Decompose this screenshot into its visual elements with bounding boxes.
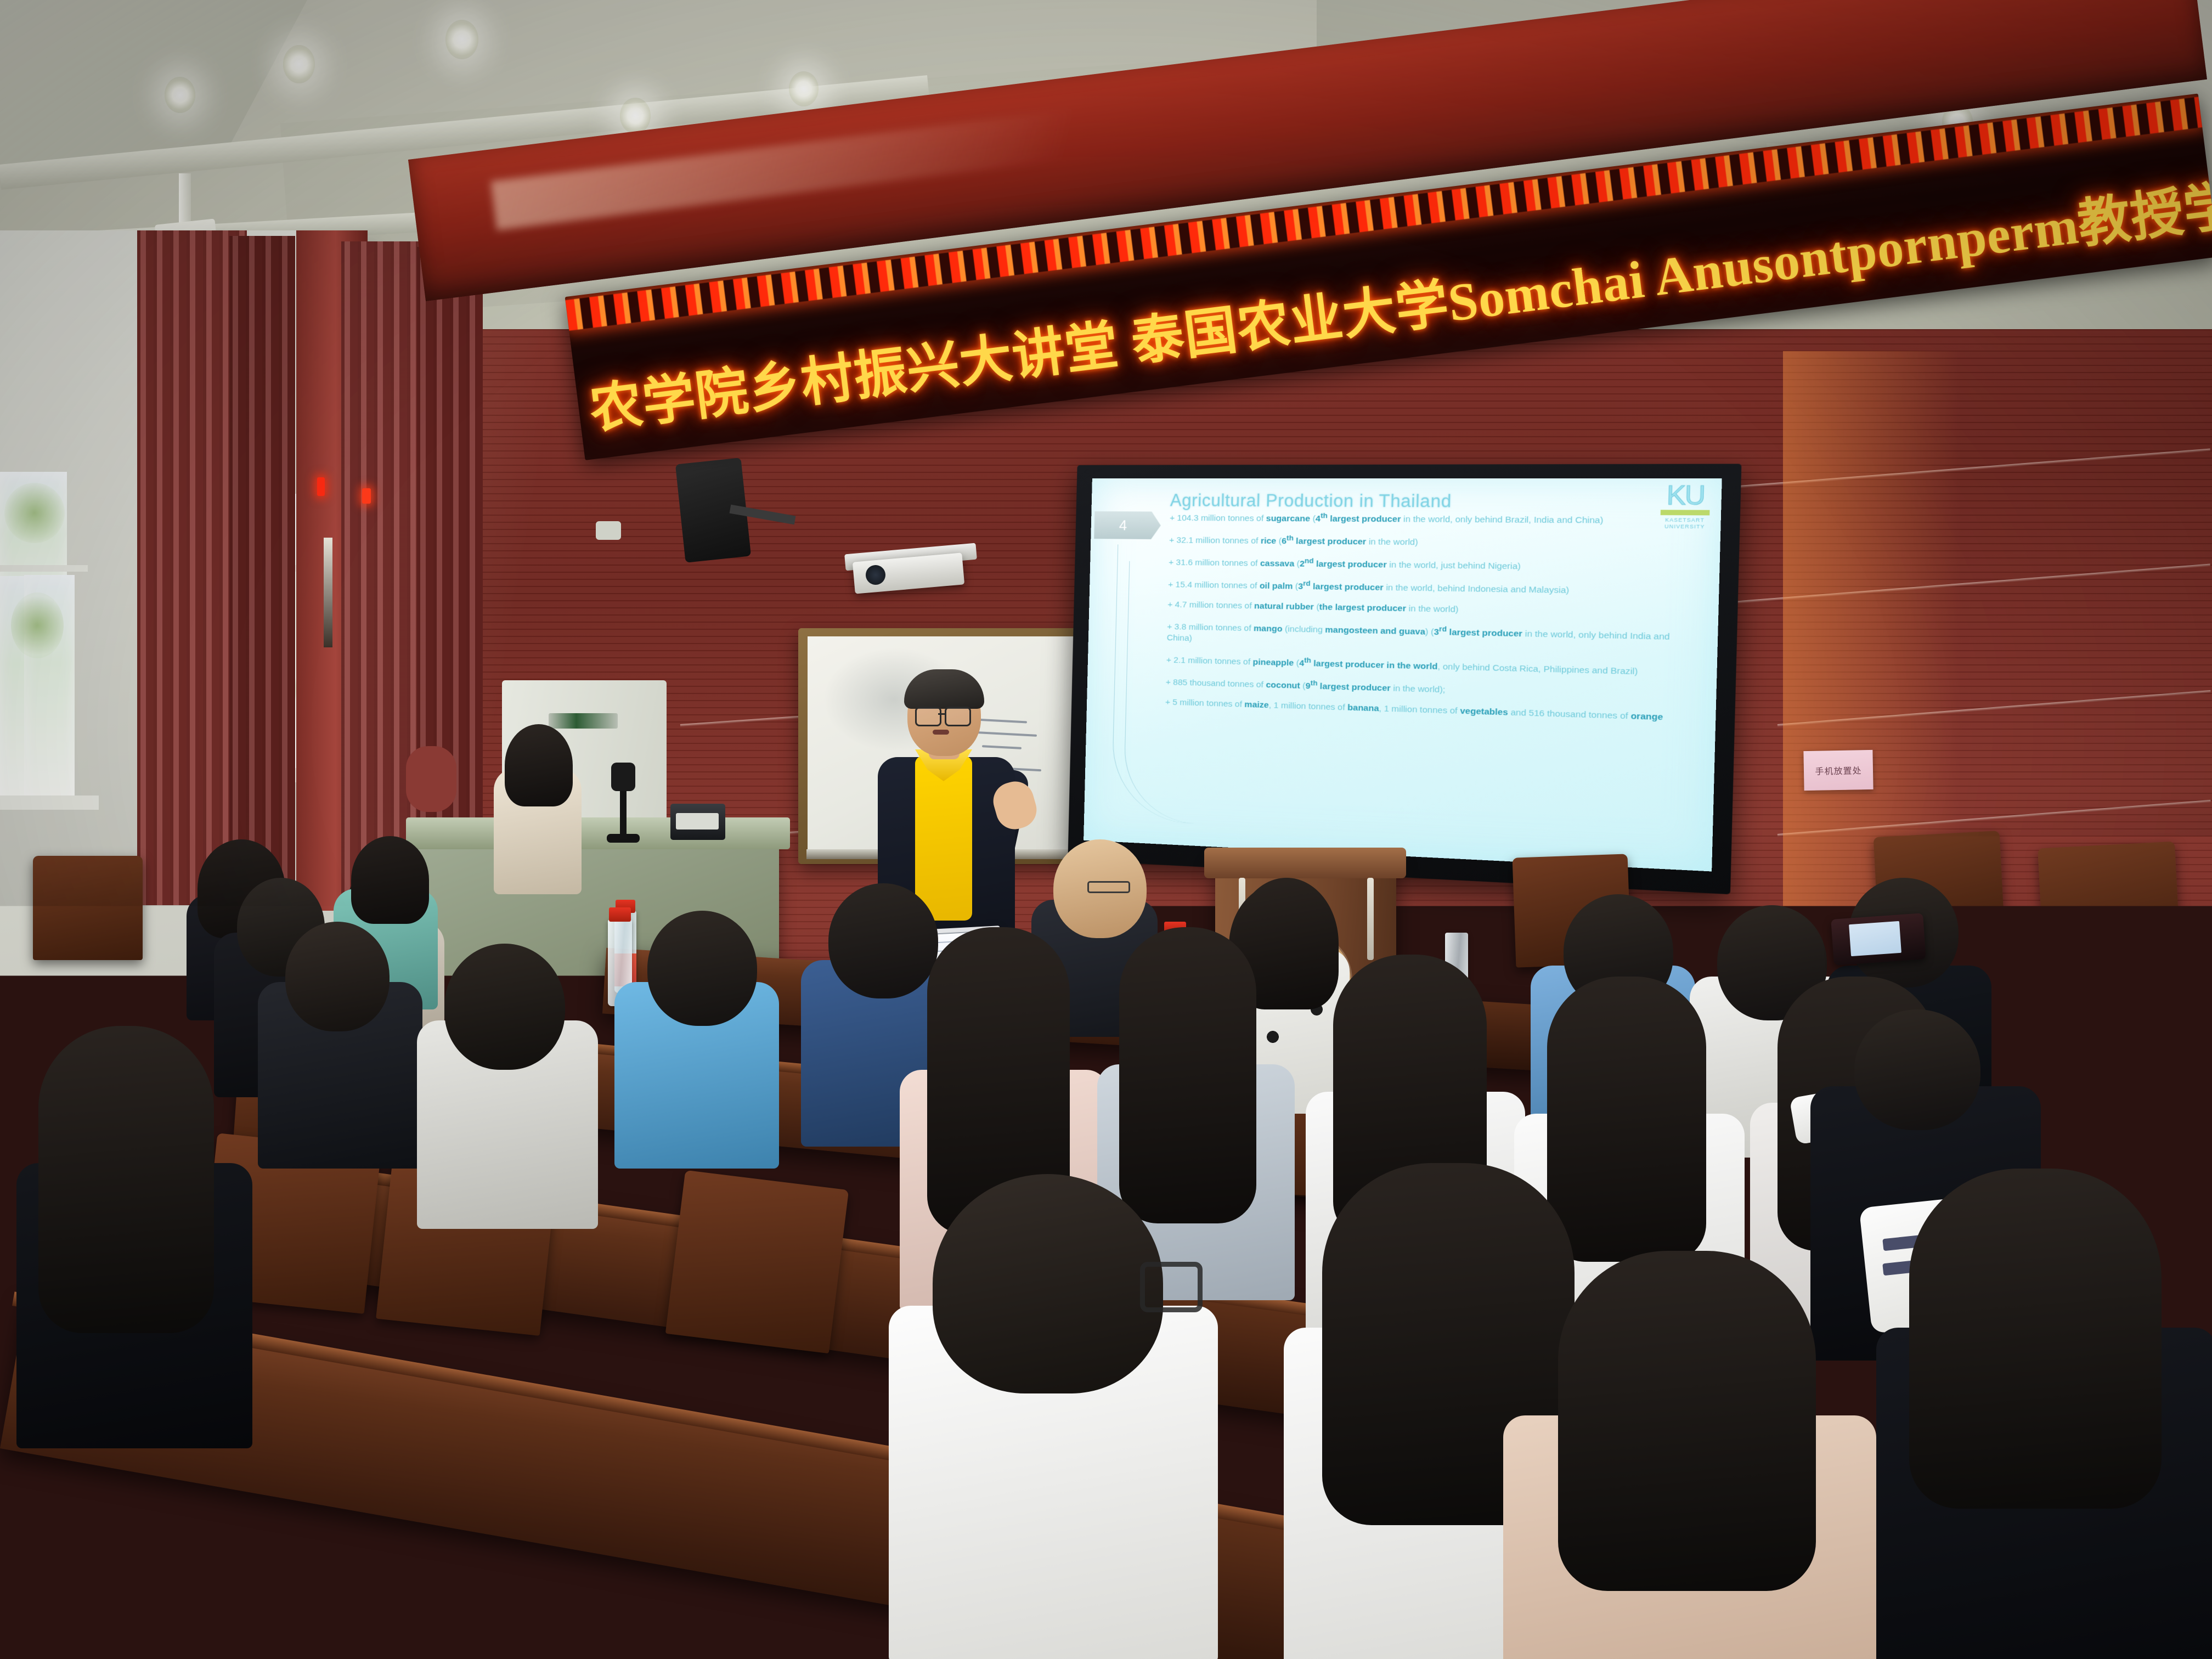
slide-bullet: + 5 million tonnes of maize, 1 million t… bbox=[1165, 697, 1671, 724]
slide-bullet: + 4.7 million tonnes of natural rubber (… bbox=[1167, 599, 1673, 619]
wall-camera-icon bbox=[596, 521, 621, 540]
ceiling-downlight-icon bbox=[283, 45, 315, 83]
person-hair bbox=[351, 836, 429, 924]
slide-number-badge: 4 bbox=[1094, 511, 1161, 539]
slide-bullet: + 885 thousand tonnes of coconut (9th la… bbox=[1166, 674, 1671, 702]
window-mullion bbox=[0, 565, 88, 572]
ac-display-panel bbox=[549, 713, 618, 729]
slide-bullet: + 32.1 million tonnes of rice (6th large… bbox=[1169, 533, 1675, 551]
phone-placement-sign-text: 手机放置处 bbox=[1815, 763, 1861, 777]
window-foliage bbox=[4, 483, 65, 543]
window-sill bbox=[0, 795, 99, 810]
lectern-trim bbox=[1367, 878, 1374, 960]
photo-timestamp: 2024/3/25 15:09 bbox=[1743, 1530, 2149, 1576]
smartphone-screen bbox=[1849, 921, 1901, 956]
projection-screen: 4 Agricultural Production in Thailand + … bbox=[1084, 478, 1722, 872]
ku-accent-bar bbox=[1661, 510, 1710, 516]
person-head bbox=[1854, 1009, 1980, 1130]
av-control-panel bbox=[676, 813, 719, 830]
bottle-cap bbox=[609, 907, 631, 922]
ceiling-downlight-icon bbox=[445, 20, 478, 59]
person-head bbox=[933, 1174, 1163, 1393]
ceiling-downlight-icon bbox=[789, 71, 819, 106]
bullet-marker: + bbox=[1170, 513, 1175, 523]
person-glasses-icon bbox=[1087, 881, 1130, 893]
chair bbox=[2038, 842, 2181, 975]
microphone-icon bbox=[611, 763, 635, 791]
person-hair-ponytail bbox=[1119, 927, 1256, 1223]
kasetsart-university-logo: KU KASETSART UNIVERSITY bbox=[1660, 483, 1711, 530]
lectern-top bbox=[1204, 848, 1406, 878]
person-hair bbox=[505, 724, 573, 806]
camera-lens-filled-icon bbox=[78, 1498, 121, 1555]
curtain-tieback bbox=[406, 746, 456, 812]
person-glasses-icon bbox=[1140, 1262, 1203, 1312]
slide-bullet: + 31.6 million tonnes of cassava (2nd la… bbox=[1169, 555, 1674, 574]
window-foliage bbox=[11, 592, 64, 658]
ku-monogram: KU bbox=[1661, 483, 1711, 508]
lecture-hall-photo: 4 Agricultural Production in Thailand + … bbox=[0, 0, 2212, 1659]
av-console-top bbox=[406, 817, 790, 849]
camera-watermark-text: SHOT ON MI MIX 2S AI DUAL CAMERA bbox=[194, 1491, 548, 1561]
slide-title: Agricultural Production in Thailand bbox=[1170, 490, 1705, 513]
mi-dual-camera-icon bbox=[78, 1498, 176, 1555]
chair bbox=[33, 856, 143, 960]
person-hair bbox=[1547, 977, 1706, 1262]
presenter-mouth bbox=[933, 730, 949, 735]
person-hair bbox=[38, 1026, 214, 1333]
chair bbox=[665, 1170, 849, 1353]
wall-switch-strip bbox=[324, 538, 332, 647]
window-curtain bbox=[229, 236, 295, 883]
bullet-marker: + bbox=[1169, 535, 1175, 545]
person-head bbox=[444, 944, 565, 1070]
presenter-glasses-icon bbox=[945, 707, 971, 726]
slide-bullet: + 15.4 million tonnes of oil palm (3rd l… bbox=[1168, 577, 1674, 598]
person-head bbox=[647, 911, 757, 1026]
camera-lens-outline-icon bbox=[133, 1498, 176, 1555]
person-head bbox=[828, 883, 938, 998]
person-hair bbox=[1909, 1169, 2162, 1509]
person-head bbox=[285, 922, 390, 1031]
camera-watermark: SHOT ON MI MIX 2S AI DUAL CAMERA bbox=[78, 1491, 548, 1561]
presenter-glasses-icon bbox=[915, 707, 941, 726]
slide-decoration bbox=[1123, 561, 1201, 823]
phone-placement-sign: 手机放置处 bbox=[1803, 750, 1873, 791]
slide-bullet: + 104.3 million tonnes of sugarcane (4th… bbox=[1170, 511, 1675, 527]
watermark-line-2: AI DUAL CAMERA bbox=[194, 1527, 548, 1561]
emergency-light-icon bbox=[362, 488, 371, 504]
ku-name-line1: KASETSART bbox=[1660, 517, 1709, 524]
emergency-light-icon bbox=[317, 477, 325, 496]
slide-bullet: + 2.1 million tonnes of pineapple (4th l… bbox=[1166, 652, 1672, 679]
watermark-line-1: SHOT ON MI MIX 2S bbox=[194, 1491, 548, 1526]
ceiling-downlight-icon bbox=[165, 77, 195, 113]
presenter-glasses-bridge bbox=[938, 713, 946, 715]
slide-bullet: + 3.8 million tonnes of mango (including… bbox=[1167, 619, 1673, 655]
ceiling-downlight-icon bbox=[620, 98, 651, 134]
ku-name-line2: UNIVERSITY bbox=[1660, 523, 1709, 530]
